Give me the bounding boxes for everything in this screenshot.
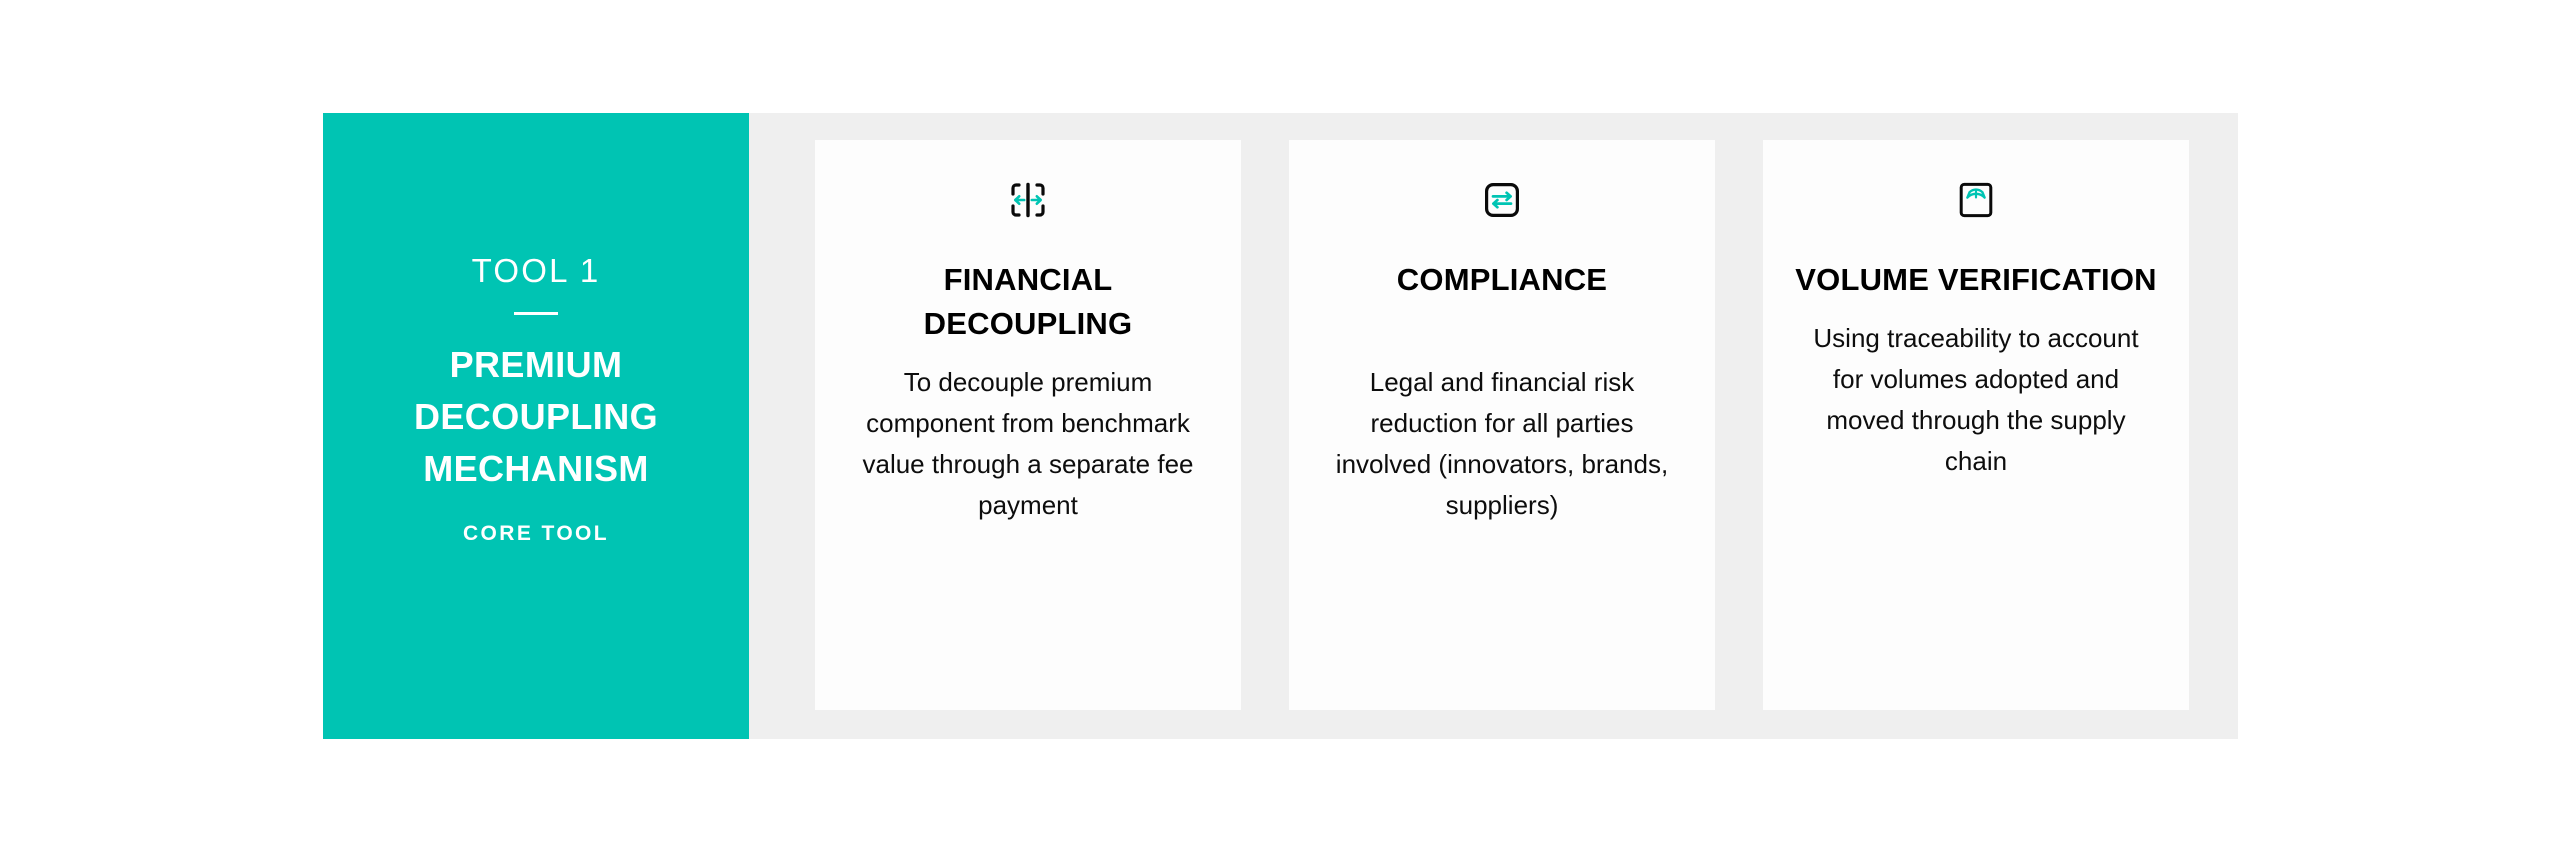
card-financial-decoupling: FINANCIAL DECOUPLING To decouple premium… bbox=[815, 140, 1241, 710]
card-title: COMPLIANCE bbox=[1397, 258, 1607, 302]
infographic-stage: TOOL 1 PREMIUM DECOUPLING MECHANISM CORE… bbox=[0, 0, 2560, 853]
hero-divider-rule bbox=[514, 312, 558, 315]
card-title: VOLUME VERIFICATION bbox=[1795, 258, 2156, 302]
card-body-text: To decouple premium component from bench… bbox=[848, 362, 1208, 526]
hero-eyebrow-label: TOOL 1 bbox=[472, 252, 601, 290]
card-compliance: COMPLIANCE Legal and financial risk redu… bbox=[1289, 140, 1715, 710]
weighing-scale-icon bbox=[1954, 178, 1998, 222]
card-body-text: Legal and financial risk reduction for a… bbox=[1322, 362, 1682, 526]
hero-subtitle-badge: CORE TOOL bbox=[463, 521, 609, 547]
exchange-arrows-icon bbox=[1480, 178, 1524, 222]
card-volume-verification: VOLUME VERIFICATION Using traceability t… bbox=[1763, 140, 2189, 710]
hero-panel: TOOL 1 PREMIUM DECOUPLING MECHANISM CORE… bbox=[323, 113, 749, 739]
cards-region: FINANCIAL DECOUPLING To decouple premium… bbox=[749, 113, 2238, 739]
card-body-text: Using traceability to account for volume… bbox=[1796, 318, 2156, 482]
hero-title: PREMIUM DECOUPLING MECHANISM bbox=[351, 339, 721, 495]
card-title: FINANCIAL DECOUPLING bbox=[845, 258, 1211, 346]
split-decouple-icon bbox=[1006, 178, 1050, 222]
